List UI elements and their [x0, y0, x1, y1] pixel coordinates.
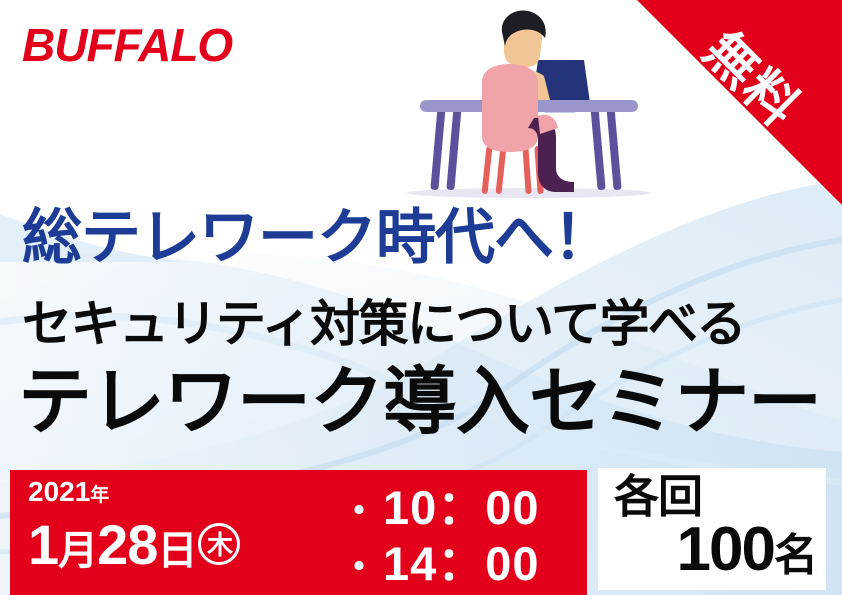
time-row-1: ・10：00 [340, 482, 540, 538]
seminar-banner: BUFFALO 無料 総テレワ [0, 0, 842, 595]
time-bullet-icon: ・ [340, 491, 379, 533]
time-block: ・10：00 ・14：00 [340, 482, 540, 594]
buffalo-logo: BUFFALO [22, 22, 232, 68]
year-value: 2021 [28, 476, 90, 507]
date-block: 2021年 1月28日木 [28, 476, 240, 582]
year-line: 2021年 [28, 476, 240, 512]
time-row-2: ・14：00 [340, 538, 540, 594]
time-value-2: 14：00 [383, 537, 540, 590]
free-corner-ribbon: 無料 [637, 0, 842, 205]
year-unit: 年 [90, 485, 109, 506]
capacity-number: 100 [677, 515, 774, 584]
day-unit: 日 [157, 529, 196, 573]
month-value: 1 [28, 513, 58, 576]
headline-primary: 総テレワーク時代へ！ [22, 205, 612, 271]
capacity-unit: 名 [774, 531, 816, 580]
date-line: 1月28日木 [28, 514, 240, 582]
capacity-count: 100名 [677, 516, 816, 590]
date-time-info-bar: 2021年 1月28日木 ・10：00 ・14：00 [10, 470, 587, 595]
headline-seminar-title: テレワーク導入セミナー [18, 360, 821, 444]
day-value: 28 [97, 513, 157, 576]
day-of-week-badge: 木 [198, 523, 240, 565]
time-value-1: 10：00 [383, 481, 540, 534]
capacity-box: 各回 100名 [598, 468, 826, 590]
time-bullet-icon: ・ [340, 547, 379, 589]
month-unit: 月 [58, 529, 97, 573]
person-working-at-desk-illustration [398, 8, 660, 208]
headline-subtitle: セキュリティ対策について学べる [22, 296, 745, 352]
